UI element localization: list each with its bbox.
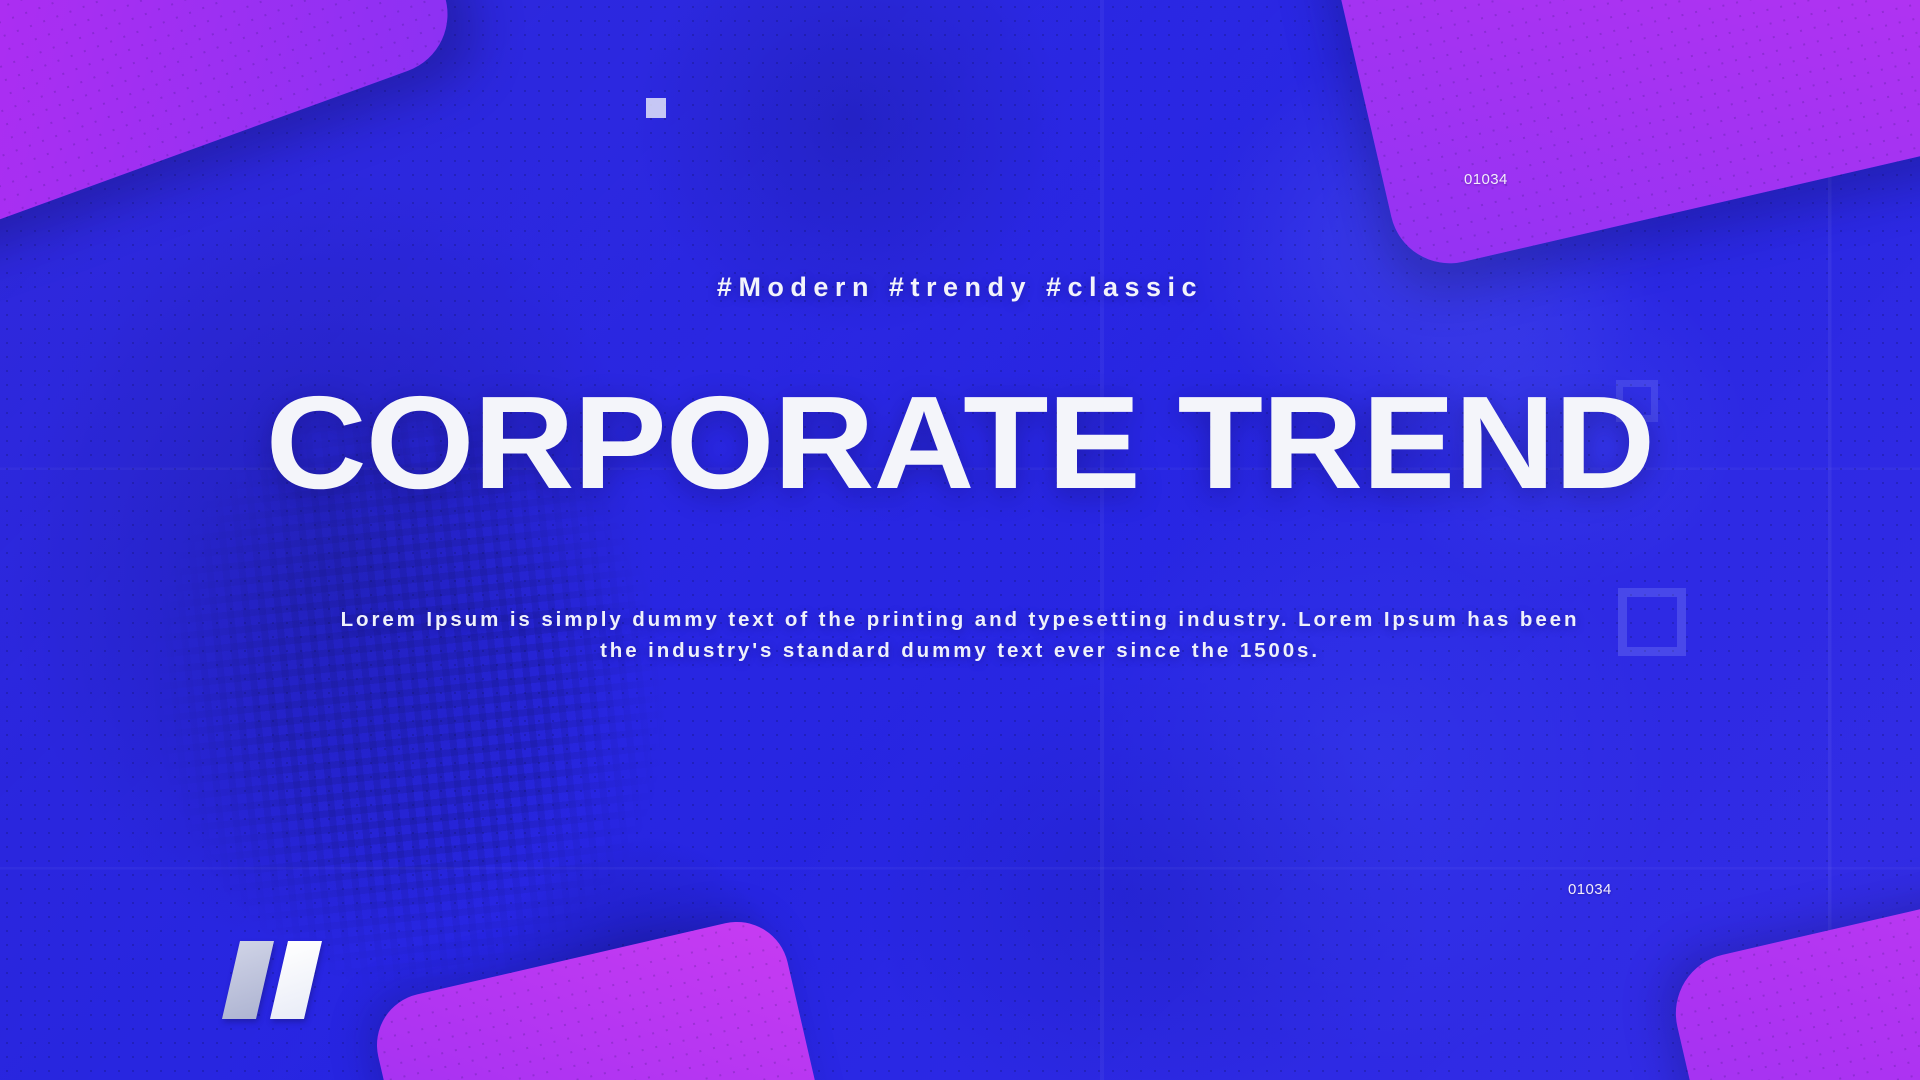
slide-headline: CORPORATE TREND	[266, 377, 1655, 509]
presentation-slide: 01034 01034 #Modern #trendy #classic COR…	[0, 0, 1920, 1080]
slide-content: #Modern #trendy #classic CORPORATE TREND…	[0, 0, 1920, 1080]
slide-tagline: #Modern #trendy #classic	[717, 272, 1203, 303]
slide-body-text: Lorem Ipsum is simply dummy text of the …	[325, 605, 1595, 667]
